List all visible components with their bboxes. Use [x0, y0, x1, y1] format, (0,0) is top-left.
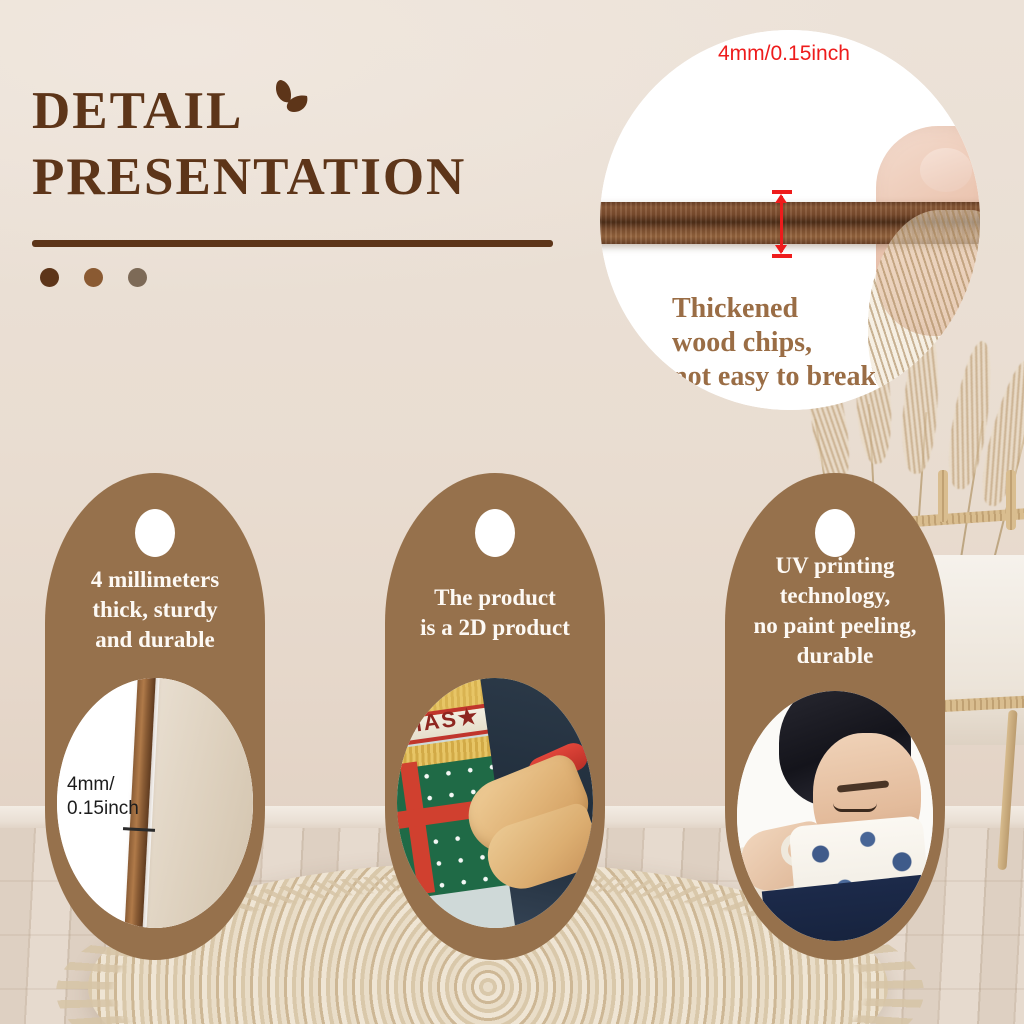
- card-thickness-photo: 4mm/ 0.15inch: [57, 678, 253, 928]
- card-2d-title-line-1: The product: [395, 583, 595, 613]
- hero-caption: Thickened wood chips, not easy to break: [672, 292, 876, 394]
- page-title-line-1: DETAIL: [32, 78, 243, 144]
- card-thickness-photo-label-line-1: 4mm/: [67, 773, 139, 797]
- feature-card-thickness[interactable]: 4 millimeters thick, sturdy and durable …: [45, 473, 265, 960]
- card-uv-title-line-1: UV printing: [735, 551, 935, 581]
- hero-caption-line-2: wood chips,: [672, 326, 876, 360]
- hero-detail-circle: 4mm/0.15inch Thickened wood chips, not e…: [600, 30, 980, 410]
- tag-hole: [475, 509, 515, 557]
- card-uv-title: UV printing technology, no paint peeling…: [725, 551, 945, 671]
- card-thickness-title: 4 millimeters thick, sturdy and durable: [45, 565, 265, 655]
- card-thickness-title-line-1: 4 millimeters: [55, 565, 255, 595]
- hero-caption-line-1: Thickened: [672, 292, 876, 326]
- tag-hole: [815, 509, 855, 557]
- card-thickness-photo-label: 4mm/ 0.15inch: [67, 773, 139, 821]
- card-uv-photo: [737, 691, 933, 941]
- page-header: DETAIL PRESENTATION: [32, 78, 466, 210]
- card-thickness-title-line-2: thick, sturdy: [55, 595, 255, 625]
- card-2d-title-line-2: is a 2D product: [395, 613, 595, 643]
- page-title-line-2: PRESENTATION: [32, 144, 466, 210]
- tag-hole: [135, 509, 175, 557]
- detail-presentation-page: DETAIL PRESENTATION 4mm/0.15inch: [0, 0, 1024, 1024]
- feature-card-uv-printing[interactable]: UV printing technology, no paint peeling…: [725, 473, 945, 960]
- dot-2: [84, 268, 103, 287]
- card-uv-title-line-2: technology,: [735, 581, 935, 611]
- leaf-pair-icon: [263, 74, 319, 135]
- header-dots: [40, 268, 147, 287]
- card-2d-photo: MAS★: [397, 678, 593, 928]
- card-2d-title: The product is a 2D product: [385, 583, 605, 643]
- card-thickness-title-line-3: and durable: [55, 625, 255, 655]
- dot-1: [40, 268, 59, 287]
- feature-card-2d-product[interactable]: The product is a 2D product MAS★: [385, 473, 605, 960]
- header-divider: [32, 240, 553, 247]
- measurement-arrow-icon: [772, 190, 792, 258]
- card-uv-title-line-4: durable: [735, 641, 935, 671]
- card-thickness-photo-label-line-2: 0.15inch: [67, 797, 139, 821]
- card-uv-title-line-3: no paint peeling,: [735, 611, 935, 641]
- hero-measurement-label: 4mm/0.15inch: [718, 42, 850, 66]
- hero-caption-line-3: not easy to break: [672, 360, 876, 394]
- dot-3: [128, 268, 147, 287]
